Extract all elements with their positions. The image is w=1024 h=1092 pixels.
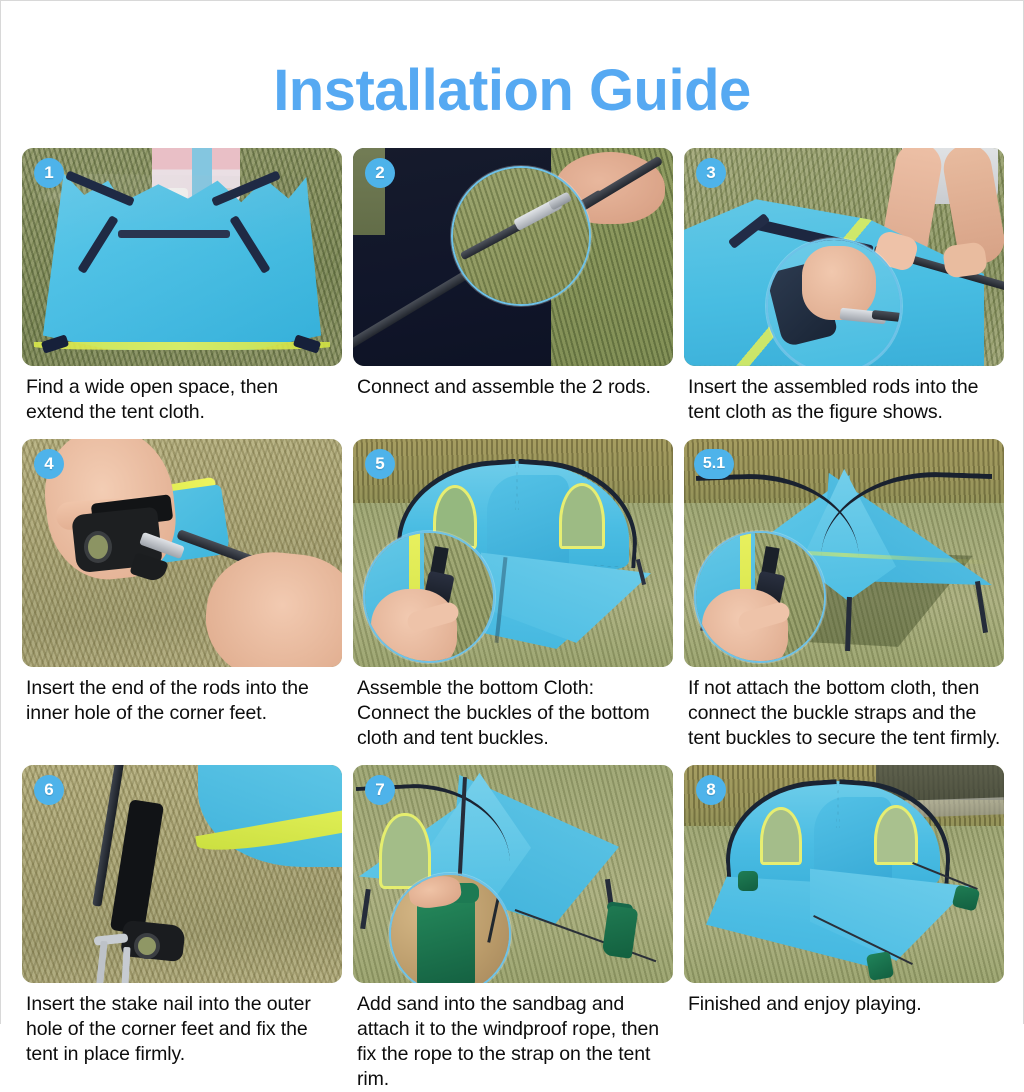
step-caption-2: Connect and assemble the 2 rods.	[353, 366, 673, 400]
step-card-1: 1 Find a wide open space, then extend th…	[22, 148, 342, 425]
step-caption-7: Add sand into the sandbag and attach it …	[353, 983, 673, 1092]
step-card-3: 3 Insert the assembled rods into the ten…	[684, 148, 1004, 425]
step-image-1: 1	[22, 148, 342, 366]
step-caption-5: Assemble the bottom Cloth: Connect the b…	[353, 667, 673, 751]
step-card-5: 5 Assemble the bottom Cloth: Connect the…	[353, 439, 673, 751]
sandbag	[866, 951, 894, 981]
step-image-3: 3	[684, 148, 1004, 366]
step-card-8: 8 Finished and enjoy playing.	[684, 765, 1004, 1092]
step-caption-5-1: If not attach the bottom cloth, then con…	[684, 667, 1004, 751]
sandbag	[738, 871, 758, 891]
closeup-inset-circle	[451, 166, 591, 306]
step-image-8: 8	[684, 765, 1004, 983]
closeup-inset-circle	[766, 238, 902, 366]
corner-foot-inner-hole	[84, 531, 112, 563]
step-caption-6: Insert the stake nail into the outer hol…	[22, 983, 342, 1067]
step-image-7: 7	[353, 765, 673, 983]
tent-cloth-yellow-hem	[34, 342, 330, 350]
step-card-2: 2 Connect and assemble the 2 rods.	[353, 148, 673, 425]
step-badge-1: 1	[34, 158, 64, 188]
inset-grass-background	[453, 168, 589, 304]
step-image-5: 5	[353, 439, 673, 667]
step-badge-7: 7	[365, 775, 395, 805]
corner-foot-outer-hole	[134, 933, 160, 959]
step-badge-5-1: 5.1	[694, 449, 734, 479]
step-image-4: 4	[22, 439, 342, 667]
step-image-6: 6	[22, 765, 342, 983]
step-badge-5: 5	[365, 449, 395, 479]
closeup-inset-circle	[694, 531, 826, 663]
step-badge-8: 8	[696, 775, 726, 805]
step-caption-3: Insert the assembled rods into the tent …	[684, 366, 1004, 425]
tent-cloth-shading	[34, 170, 330, 350]
step-image-5-1: 5.1	[684, 439, 1004, 667]
closeup-inset-circle	[389, 873, 511, 983]
step-caption-4: Insert the end of the rods into the inne…	[22, 667, 342, 726]
step-card-4: 4 Insert the end of the rods into the in…	[22, 439, 342, 751]
step-caption-1: Find a wide open space, then extend the …	[22, 366, 342, 425]
page-title: Installation Guide	[1, 40, 1023, 120]
pole-sleeve-center	[118, 230, 230, 238]
closeup-inset-circle	[363, 531, 495, 663]
step-badge-4: 4	[34, 449, 64, 479]
step-badge-6: 6	[34, 775, 64, 805]
step-card-6: 6 Insert the stake nail into the outer h…	[22, 765, 342, 1092]
steps-grid: 1 Find a wide open space, then extend th…	[22, 148, 1004, 1092]
step-badge-2: 2	[365, 158, 395, 188]
inset-hand	[802, 246, 876, 320]
step-badge-3: 3	[696, 158, 726, 188]
step-image-2: 2	[353, 148, 673, 366]
step-card-5-1: 5.1 If not attach the bottom cloth, then…	[684, 439, 1004, 751]
step-card-7: 7 Add sand into the sandbag and attach i…	[353, 765, 673, 1092]
step-caption-8: Finished and enjoy playing.	[684, 983, 1004, 1017]
installation-guide-page: Installation Guide 1 F	[1, 40, 1023, 1062]
